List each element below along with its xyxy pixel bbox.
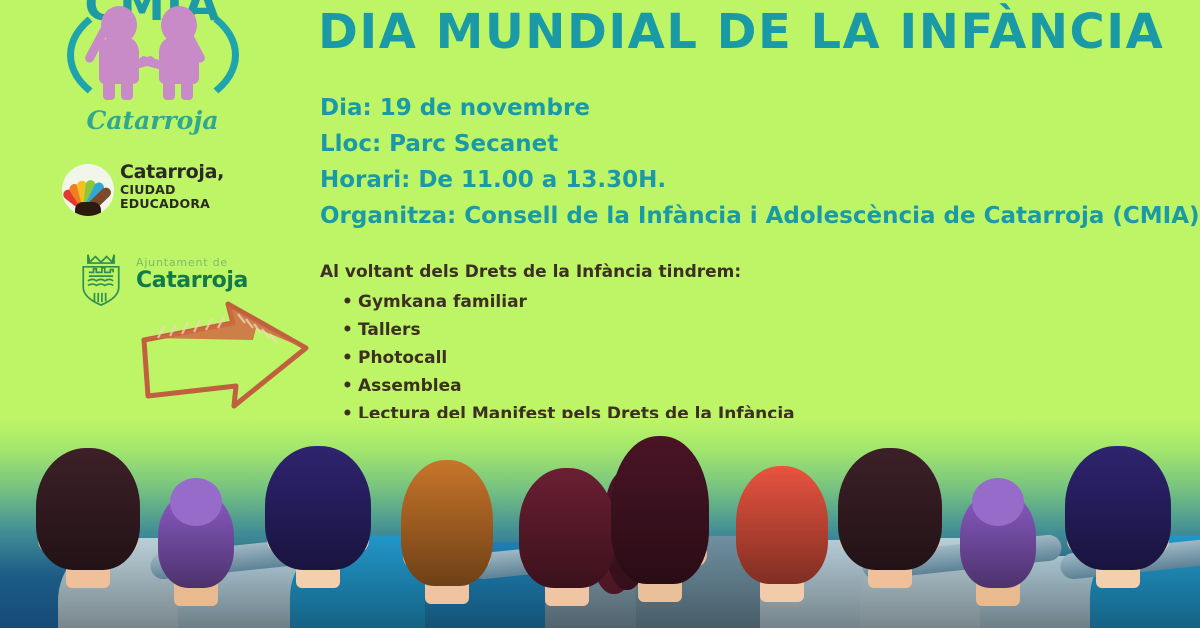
edu-line-1: Catarroja, [120, 162, 224, 183]
colored-hand-icon [62, 164, 114, 216]
detail-organitza: Organitza: Consell de la Infància i Adol… [320, 198, 1190, 234]
activities-list: Gymkana familiar Tallers Photocall Assem… [320, 288, 1020, 428]
detail-horari: Horari: De 11.00 a 13.30H. [320, 162, 1190, 198]
figure-hair [401, 460, 493, 586]
ciudad-educadora-text: Catarroja, CIUDAD EDUCADORA [120, 162, 224, 211]
detail-lloc: Lloc: Parc Secanet [320, 126, 1190, 162]
figure-hair [519, 468, 615, 588]
ciudad-educadora-logo: Catarroja, CIUDAD EDUCADORA [62, 162, 262, 222]
activities-section: Al voltant dels Drets de la Infància tin… [320, 258, 1020, 428]
figure-hair [36, 448, 140, 570]
page-title: DIA MUNDIAL DE LA INFÀNCIA [318, 3, 1188, 61]
cmia-town-label: Catarroja [45, 106, 260, 135]
figure-hair [1065, 446, 1171, 570]
list-item: Tallers [320, 316, 1020, 344]
hand-drawn-arrow-icon [138, 298, 313, 413]
figure-hair [611, 436, 709, 584]
ajuntament-text: Ajuntament de Catarroja [136, 256, 248, 293]
edu-line-3: EDUCADORA [120, 197, 224, 211]
activities-intro: Al voltant dels Drets de la Infància tin… [320, 258, 1020, 286]
event-details: Dia: 19 de novembre Lloc: Parc Secanet H… [320, 90, 1190, 234]
edu-line-2: CIUDAD [120, 183, 224, 197]
list-item: Gymkana familiar [320, 288, 1020, 316]
list-item: Photocall [320, 344, 1020, 372]
shield-crest-icon [74, 250, 128, 306]
figure-hair-bun [972, 478, 1024, 526]
cmia-acronym: CMIA [45, 0, 260, 30]
figure-hair [265, 446, 371, 570]
detail-dia: Dia: 19 de novembre [320, 90, 1190, 126]
ajuntament-logo: Ajuntament de Catarroja [68, 240, 278, 306]
logo-column: CMIA Catarroja [0, 0, 300, 430]
list-item: Assemblea [320, 372, 1020, 400]
figure-hair [736, 466, 828, 584]
children-illustration: elperiòdic com [0, 418, 1200, 628]
figure-hair-bun [170, 478, 222, 526]
poster-canvas: CMIA Catarroja [0, 0, 1200, 628]
cmia-logo: CMIA Catarroja [45, 0, 260, 158]
ajuntament-line-2: Catarroja [136, 269, 248, 293]
figure-hair [838, 448, 942, 570]
